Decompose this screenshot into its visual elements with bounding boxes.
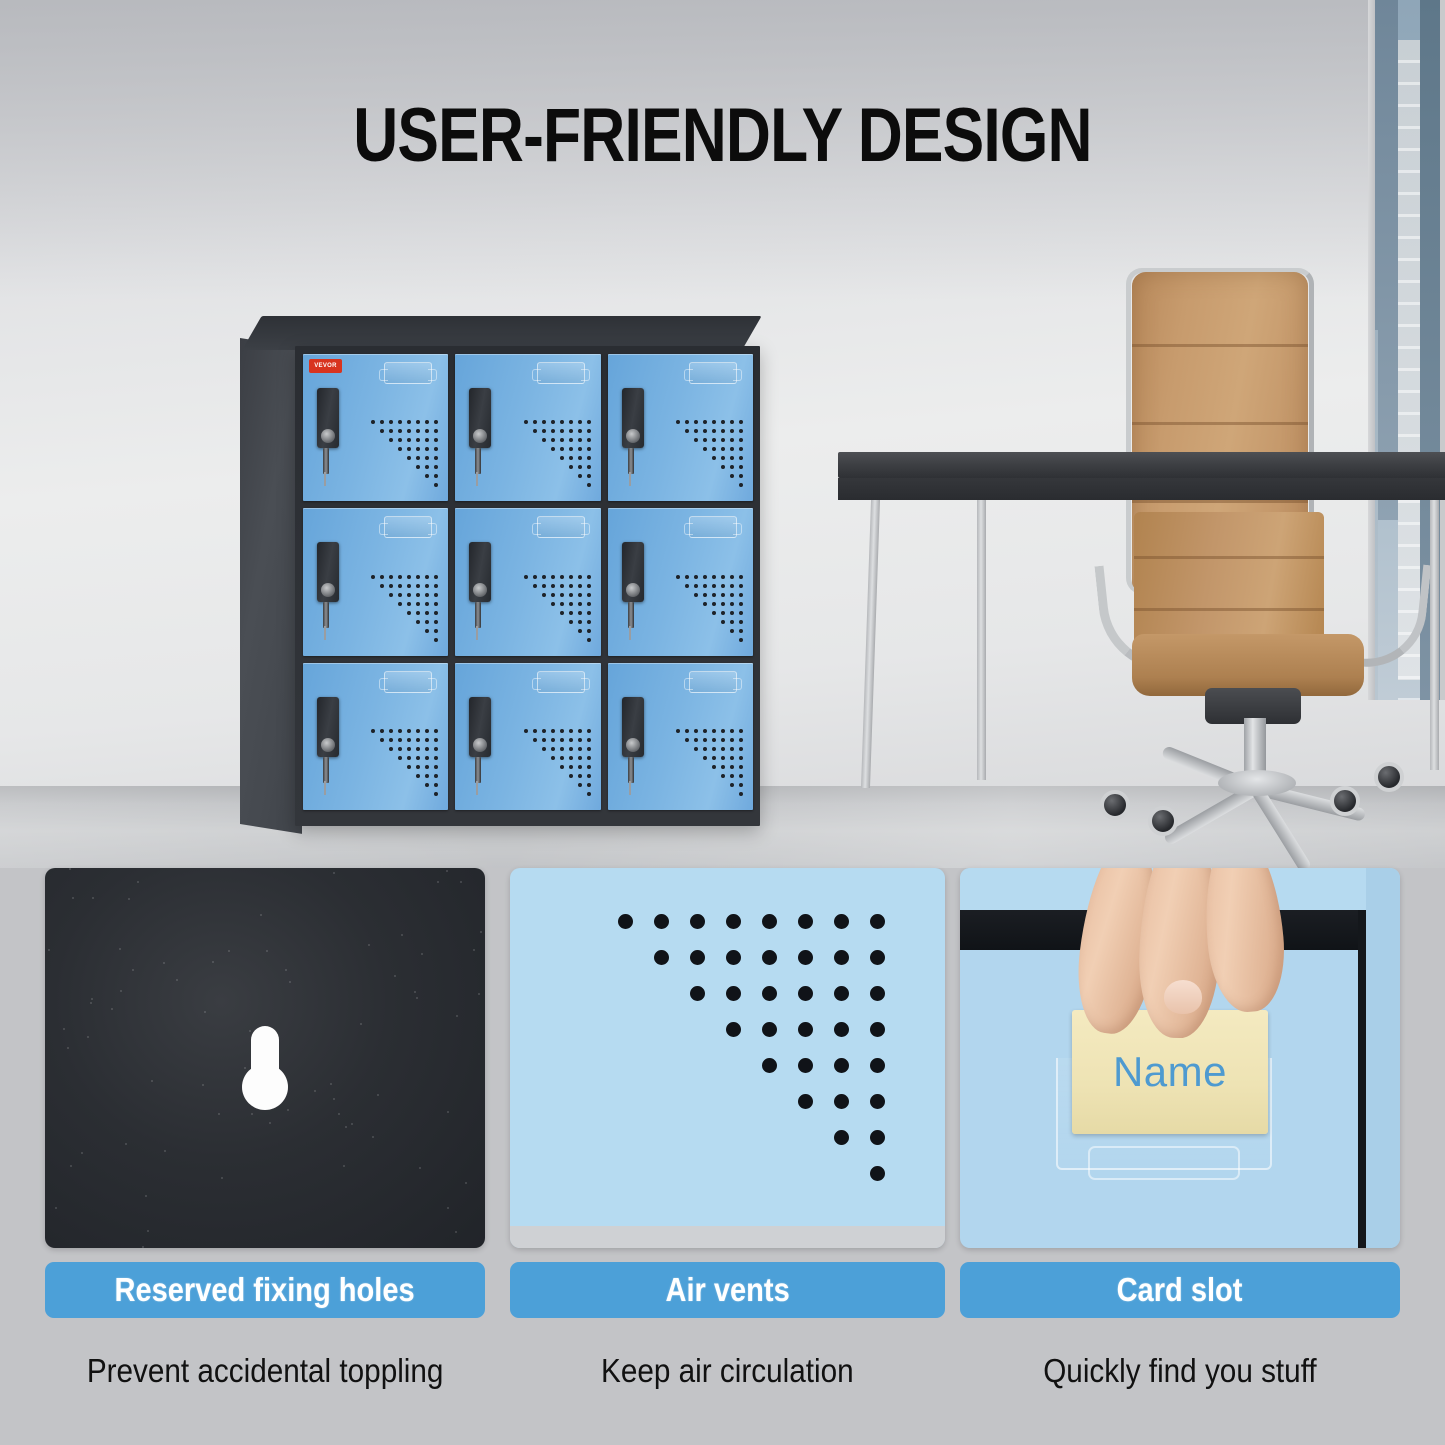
lock-cylinder xyxy=(321,429,335,443)
vent-hole xyxy=(587,611,591,615)
vent-hole xyxy=(416,774,420,778)
vent-hole xyxy=(560,584,564,588)
panel-texture-speck xyxy=(119,948,121,950)
vent-hole xyxy=(587,474,591,478)
fingernail xyxy=(1164,980,1202,1014)
vent-hole xyxy=(434,792,438,796)
door-key[interactable] xyxy=(323,602,329,628)
vent-hole xyxy=(721,774,725,778)
door-air-vent xyxy=(505,576,591,646)
vent-hole xyxy=(569,729,573,733)
vent-hole xyxy=(416,456,420,460)
vent-hole xyxy=(416,602,420,606)
vent-hole xyxy=(425,611,429,615)
vent-hole xyxy=(721,756,725,760)
vent-hole xyxy=(694,420,698,424)
vent-hole xyxy=(434,465,438,469)
vent-hole xyxy=(798,1022,813,1037)
adjacent-door xyxy=(1366,868,1400,1248)
feature-badge-label: Reserved fixing holes xyxy=(115,1271,415,1309)
locker-cabinet: VEVOR xyxy=(240,316,762,844)
vent-hole xyxy=(712,738,716,742)
vent-hole xyxy=(739,774,743,778)
vent-hole xyxy=(434,783,438,787)
vent-hole xyxy=(739,792,743,796)
vent-hole xyxy=(730,729,734,733)
vent-hole xyxy=(739,611,743,615)
vent-hole xyxy=(730,456,734,460)
vent-hole xyxy=(730,420,734,424)
vent-hole xyxy=(587,792,591,796)
vent-hole xyxy=(578,465,582,469)
door-card-slot xyxy=(689,516,737,538)
vent-hole xyxy=(569,593,573,597)
panel-texture-speck xyxy=(251,1113,253,1115)
vent-hole xyxy=(569,774,573,778)
vent-hole xyxy=(551,575,555,579)
vent-hole xyxy=(676,729,680,733)
feature-caption-text: Keep air circulation xyxy=(601,1352,854,1390)
locker-door-grid: VEVOR xyxy=(303,354,753,810)
panel-edge xyxy=(510,1226,945,1248)
locker-door[interactable] xyxy=(303,508,448,655)
building-floor-line xyxy=(1398,82,1420,85)
vent-hole xyxy=(587,575,591,579)
locker-door[interactable] xyxy=(455,663,600,810)
vent-hole xyxy=(578,629,582,633)
vent-hole xyxy=(739,629,743,633)
vent-hole xyxy=(730,447,734,451)
vent-hole xyxy=(712,765,716,769)
vent-hole xyxy=(407,593,411,597)
vent-hole xyxy=(434,611,438,615)
vent-hole xyxy=(721,602,725,606)
vent-hole xyxy=(551,729,555,733)
vent-hole xyxy=(676,575,680,579)
vent-hole xyxy=(371,729,375,733)
building-floor-line xyxy=(1398,544,1420,547)
door-air-vent xyxy=(352,730,438,800)
vent-hole xyxy=(569,765,573,769)
building-floor-line xyxy=(1398,302,1420,305)
vent-hole xyxy=(703,429,707,433)
vent-hole xyxy=(721,611,725,615)
feature-caption-card-slot: Quickly find you stuff xyxy=(960,1348,1400,1394)
vent-hole xyxy=(676,420,680,424)
vent-hole xyxy=(712,611,716,615)
vent-hole xyxy=(434,602,438,606)
vent-hole xyxy=(398,420,402,424)
building-floor-line xyxy=(1398,214,1420,217)
vent-hole xyxy=(703,756,707,760)
vent-hole xyxy=(730,747,734,751)
vent-hole xyxy=(371,420,375,424)
vent-hole xyxy=(587,620,591,624)
panel-texture-speck xyxy=(269,1122,271,1124)
vent-hole xyxy=(398,602,402,606)
panel-texture-speck xyxy=(285,969,287,971)
panel-texture-speck xyxy=(90,1002,92,1004)
vent-hole xyxy=(569,620,573,624)
vent-hole xyxy=(389,584,393,588)
panel-texture-speck xyxy=(92,897,94,899)
vent-hole xyxy=(398,584,402,588)
vent-hole xyxy=(416,738,420,742)
vent-hole xyxy=(685,575,689,579)
locker-door[interactable] xyxy=(455,354,600,501)
panel-texture-speck xyxy=(69,868,71,870)
vent-hole xyxy=(560,575,564,579)
vent-hole xyxy=(703,575,707,579)
vent-hole xyxy=(834,914,849,929)
feature-image-air-vents xyxy=(510,868,945,1248)
vent-hole xyxy=(730,774,734,778)
vent-hole xyxy=(739,456,743,460)
vent-hole xyxy=(870,950,885,965)
vent-hole xyxy=(434,456,438,460)
door-vertical-seam xyxy=(1358,910,1366,1248)
vent-hole xyxy=(434,765,438,769)
vent-hole xyxy=(407,738,411,742)
vent-hole xyxy=(407,447,411,451)
panel-texture-speck xyxy=(91,998,93,1000)
feature-caption-text: Prevent accidental toppling xyxy=(87,1352,444,1390)
vent-hole xyxy=(870,1058,885,1073)
building-floor-line xyxy=(1398,500,1420,503)
panel-texture-speck xyxy=(132,969,134,971)
panel-texture-speck xyxy=(145,1195,147,1197)
vent-hole xyxy=(398,729,402,733)
vent-hole xyxy=(685,729,689,733)
vent-hole xyxy=(762,1058,777,1073)
vent-hole xyxy=(425,429,429,433)
lock-cylinder xyxy=(473,738,487,752)
vent-hole xyxy=(569,747,573,751)
locker-top-panel xyxy=(242,316,762,350)
vent-hole xyxy=(560,747,564,751)
locker-door[interactable]: VEVOR xyxy=(303,354,448,501)
vent-hole xyxy=(560,456,564,460)
desk-surface xyxy=(838,452,1445,478)
vent-hole xyxy=(712,429,716,433)
vent-hole xyxy=(587,447,591,451)
chair-seat xyxy=(1132,634,1364,696)
door-key[interactable] xyxy=(475,757,481,783)
vent-hole xyxy=(587,638,591,642)
locker-door[interactable] xyxy=(303,663,448,810)
door-key[interactable] xyxy=(323,757,329,783)
panel-texture-speck xyxy=(343,1165,345,1167)
vent-hole xyxy=(434,584,438,588)
vent-hole xyxy=(380,738,384,742)
building-floor-line xyxy=(1398,104,1420,107)
vent-hole xyxy=(870,1094,885,1109)
vent-hole xyxy=(712,447,716,451)
vent-hole xyxy=(560,729,564,733)
vent-hole xyxy=(569,429,573,433)
vent-hole xyxy=(712,456,716,460)
vent-hole xyxy=(407,765,411,769)
vent-hole xyxy=(425,584,429,588)
vent-hole xyxy=(730,474,734,478)
vent-hole xyxy=(654,950,669,965)
vent-hole xyxy=(712,602,716,606)
vent-hole xyxy=(416,765,420,769)
vent-hole xyxy=(587,774,591,778)
panel-texture-speck xyxy=(465,1182,467,1184)
vent-hole xyxy=(578,474,582,478)
vent-hole xyxy=(398,593,402,597)
vent-hole xyxy=(434,729,438,733)
vent-hole xyxy=(551,429,555,433)
panel-texture-speck xyxy=(289,981,291,983)
vent-hole xyxy=(569,738,573,742)
vent-hole xyxy=(551,738,555,742)
door-air-vent xyxy=(352,421,438,491)
building-floor-line xyxy=(1398,412,1420,415)
vent-hole xyxy=(739,756,743,760)
panel-texture-speck xyxy=(338,1113,340,1115)
panel-texture-speck xyxy=(72,897,74,899)
vent-hole xyxy=(578,447,582,451)
vent-hole xyxy=(730,756,734,760)
vent-hole xyxy=(578,575,582,579)
vent-hole xyxy=(425,620,429,624)
panel-texture-speck xyxy=(372,1136,374,1138)
vent-hole xyxy=(434,756,438,760)
vent-hole xyxy=(587,765,591,769)
card-slot-inner-lip xyxy=(1088,1146,1240,1180)
vent-hole xyxy=(726,914,741,929)
vent-hole xyxy=(694,575,698,579)
vent-hole xyxy=(578,456,582,460)
vent-hole xyxy=(389,738,393,742)
vent-hole xyxy=(870,986,885,1001)
vent-hole xyxy=(712,756,716,760)
door-card-slot xyxy=(689,362,737,384)
vent-hole xyxy=(587,465,591,469)
chair-gas-cylinder xyxy=(1244,718,1266,778)
door-lock[interactable] xyxy=(469,388,491,448)
vent-hole xyxy=(587,738,591,742)
vent-hole xyxy=(434,429,438,433)
building-floor-line xyxy=(1398,390,1420,393)
vent-hole xyxy=(416,465,420,469)
door-air-vent xyxy=(657,730,743,800)
door-key[interactable] xyxy=(628,602,634,628)
vent-hole xyxy=(739,483,743,487)
vent-hole xyxy=(834,986,849,1001)
door-key[interactable] xyxy=(323,448,329,474)
door-lock[interactable] xyxy=(317,388,339,448)
vent-hole xyxy=(434,575,438,579)
door-key[interactable] xyxy=(475,602,481,628)
panel-texture-speck xyxy=(480,931,482,933)
locker-door[interactable] xyxy=(608,354,753,501)
vent-hole xyxy=(712,420,716,424)
door-key[interactable] xyxy=(628,757,634,783)
panel-texture-speck xyxy=(87,1036,89,1038)
vent-hole xyxy=(685,738,689,742)
vent-hole xyxy=(694,593,698,597)
vent-hole xyxy=(721,429,725,433)
vent-hole xyxy=(560,765,564,769)
vent-hole xyxy=(416,420,420,424)
vent-hole xyxy=(798,950,813,965)
panel-texture-speck xyxy=(460,881,462,883)
panel-texture-speck xyxy=(63,1028,65,1030)
vent-hole xyxy=(739,438,743,442)
vent-hole xyxy=(578,765,582,769)
vent-hole xyxy=(739,420,743,424)
vent-hole xyxy=(398,575,402,579)
panel-texture-speck xyxy=(202,1084,204,1086)
vent-hole xyxy=(721,765,725,769)
vent-hole xyxy=(434,447,438,451)
vent-hole xyxy=(739,602,743,606)
vent-hole xyxy=(434,483,438,487)
door-card-slot xyxy=(537,516,585,538)
vent-hole xyxy=(407,756,411,760)
vent-hole xyxy=(551,447,555,451)
door-air-vent xyxy=(505,730,591,800)
vent-hole xyxy=(730,584,734,588)
vent-hole xyxy=(542,738,546,742)
door-lock[interactable] xyxy=(469,542,491,602)
vent-hole xyxy=(542,438,546,442)
door-lock[interactable] xyxy=(317,542,339,602)
locker-door[interactable] xyxy=(455,508,600,655)
vent-hole xyxy=(578,584,582,588)
vent-hole xyxy=(389,438,393,442)
vent-hole xyxy=(578,611,582,615)
building-floor-line xyxy=(1398,170,1420,173)
hand-inserting-card xyxy=(1068,868,1298,1064)
vent-hole xyxy=(380,575,384,579)
vent-hole xyxy=(416,729,420,733)
vent-hole xyxy=(721,465,725,469)
vent-hole xyxy=(739,429,743,433)
panel-texture-speck xyxy=(401,934,403,936)
feature-badge-card-slot: Card slot xyxy=(960,1262,1400,1318)
vent-hole xyxy=(654,914,669,929)
vent-hole xyxy=(834,1058,849,1073)
vent-hole xyxy=(587,438,591,442)
door-lock[interactable] xyxy=(317,697,339,757)
vent-hole xyxy=(870,1130,885,1145)
vent-hole xyxy=(551,438,555,442)
building-floor-line xyxy=(1398,698,1420,700)
panel-texture-speck xyxy=(120,990,122,992)
door-card-slot xyxy=(384,362,432,384)
panel-texture-speck xyxy=(330,1083,332,1085)
panel-texture-speck xyxy=(70,1165,72,1167)
vent-hole xyxy=(569,602,573,606)
vent-hole xyxy=(730,611,734,615)
vent-hole xyxy=(694,747,698,751)
vent-hole xyxy=(578,438,582,442)
vent-hole xyxy=(389,729,393,733)
locker-door[interactable] xyxy=(608,663,753,810)
vent-hole xyxy=(730,593,734,597)
panel-texture-speck xyxy=(249,1030,251,1032)
panel-texture-speck xyxy=(314,1090,316,1092)
vent-hole xyxy=(425,575,429,579)
vent-hole xyxy=(533,575,537,579)
door-card-slot xyxy=(384,516,432,538)
door-key[interactable] xyxy=(475,448,481,474)
vent-hole xyxy=(569,447,573,451)
vent-hole xyxy=(398,438,402,442)
vent-hole xyxy=(425,738,429,742)
vent-hole xyxy=(739,783,743,787)
door-lock[interactable] xyxy=(622,542,644,602)
chair-base-hub xyxy=(1218,770,1296,796)
lock-cylinder xyxy=(626,583,640,597)
vent-hole xyxy=(533,729,537,733)
panel-texture-speck xyxy=(447,1207,449,1209)
lock-cylinder xyxy=(626,429,640,443)
panel-texture-speck xyxy=(414,991,416,993)
building-floor-line xyxy=(1398,434,1420,437)
panel-texture-speck xyxy=(228,950,230,952)
vent-hole xyxy=(712,575,716,579)
vent-hole xyxy=(685,420,689,424)
vent-hole xyxy=(434,620,438,624)
vent-hole xyxy=(542,584,546,588)
vent-hole xyxy=(578,756,582,760)
vent-hole xyxy=(425,438,429,442)
panel-texture-speck xyxy=(204,1011,206,1013)
door-lock[interactable] xyxy=(469,697,491,757)
feature-image-card-slot: Name xyxy=(960,868,1400,1248)
feature-caption-air-vents: Keep air circulation xyxy=(510,1348,945,1394)
vent-hole xyxy=(721,729,725,733)
vent-hole xyxy=(762,986,777,1001)
vent-hole xyxy=(578,429,582,433)
door-key[interactable] xyxy=(628,448,634,474)
vent-hole xyxy=(587,584,591,588)
vent-hole xyxy=(587,756,591,760)
desk-leg xyxy=(977,500,986,780)
building-floor-line xyxy=(1398,522,1420,525)
vent-hole xyxy=(578,738,582,742)
panel-texture-speck xyxy=(67,1047,69,1049)
vent-hole xyxy=(569,611,573,615)
vent-hole xyxy=(618,914,633,929)
vent-hole xyxy=(726,950,741,965)
vent-hole xyxy=(569,420,573,424)
vent-hole xyxy=(398,429,402,433)
panel-texture-speck xyxy=(137,881,139,883)
door-lock[interactable] xyxy=(622,388,644,448)
door-lock[interactable] xyxy=(622,697,644,757)
locker-door[interactable] xyxy=(608,508,753,655)
vent-hole xyxy=(569,584,573,588)
vent-hole xyxy=(425,765,429,769)
vent-hole xyxy=(542,429,546,433)
vent-hole xyxy=(721,738,725,742)
panel-texture-speck xyxy=(125,1143,127,1145)
vent-hole xyxy=(739,620,743,624)
vent-hole xyxy=(524,729,528,733)
vent-hole xyxy=(712,747,716,751)
vent-hole xyxy=(712,584,716,588)
keyhole-mount-icon xyxy=(251,1026,279,1088)
desk-edge xyxy=(838,478,1445,500)
panel-texture-speck xyxy=(48,949,50,951)
building-floor-line xyxy=(1398,60,1420,63)
